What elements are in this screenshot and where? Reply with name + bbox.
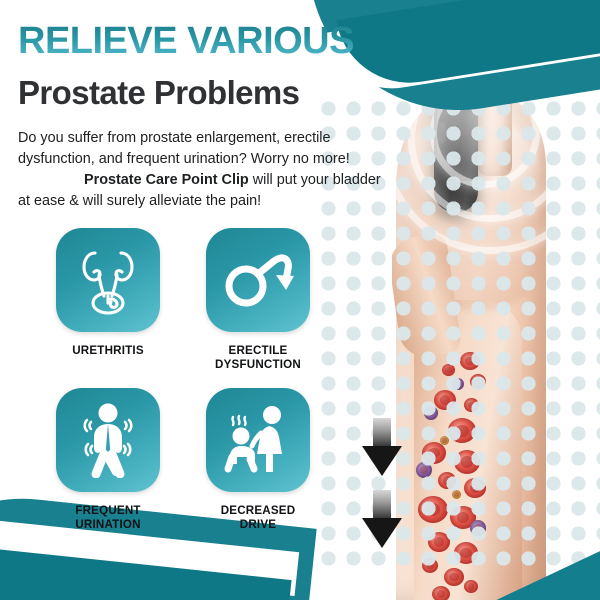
person-crossed-legs-icon	[74, 402, 142, 478]
text-content: RELIEVE VARIOUS Prostate Problems Do you…	[0, 0, 400, 600]
body-copy: Do you suffer from prostate enlargement,…	[18, 128, 386, 212]
benefit-item-urethritis: URETHRITIS	[56, 228, 166, 358]
benefit-tile-frequent-urination	[56, 388, 160, 492]
benefit-label-erectile-dysfunction: ERECTILE DYSFUNCTION	[196, 344, 320, 373]
benefit-tile-urethritis	[56, 228, 160, 332]
headline-line2: Prostate Problems	[18, 76, 378, 109]
body-line-4: at ease & will surely alleviate the pain…	[18, 193, 261, 209]
couple-low-libido-icon	[220, 403, 296, 477]
benefit-tile-decreased-drive	[206, 388, 310, 492]
label-line-2: URINATION	[75, 518, 140, 531]
label-line-2: DYSFUNCTION	[215, 358, 301, 371]
label-line-2: DRIVE	[240, 518, 276, 531]
label-line-1: DECREASED	[221, 504, 296, 517]
benefit-label-decreased-drive: DECREASED DRIVE	[196, 504, 320, 533]
benefit-item-decreased-drive: DECREASED DRIVE	[206, 388, 316, 533]
male-symbol-drooping-arrow-icon	[222, 250, 294, 310]
product-name: Prostate Care Point Clip	[84, 172, 249, 188]
advertisement-banner: RELIEVE VARIOUS Prostate Problems Do you…	[0, 0, 600, 600]
label-line-1: FREQUENT	[75, 504, 140, 517]
benefit-label-frequent-urination: FREQUENT URINATION	[50, 504, 166, 533]
label-line-1: ERECTILE	[229, 344, 288, 357]
urinary-tract-icon	[75, 243, 141, 317]
benefit-item-erectile-dysfunction: ERECTILE DYSFUNCTION	[206, 228, 316, 373]
body-line-1: Do you suffer from prostate enlargement,…	[18, 130, 330, 146]
benefit-item-frequent-urination: FREQUENT URINATION	[56, 388, 166, 533]
body-line-3-rest: will put your bladder	[249, 172, 381, 188]
benefit-tile-erectile-dysfunction	[206, 228, 310, 332]
headline-line1: RELIEVE VARIOUS	[18, 22, 378, 60]
benefit-label-urethritis: URETHRITIS	[50, 344, 166, 358]
body-line-2: dysfunction, and frequent urination? Wor…	[18, 151, 350, 167]
body-line-3: Prostate Care Point Clip will put your b…	[18, 170, 386, 191]
